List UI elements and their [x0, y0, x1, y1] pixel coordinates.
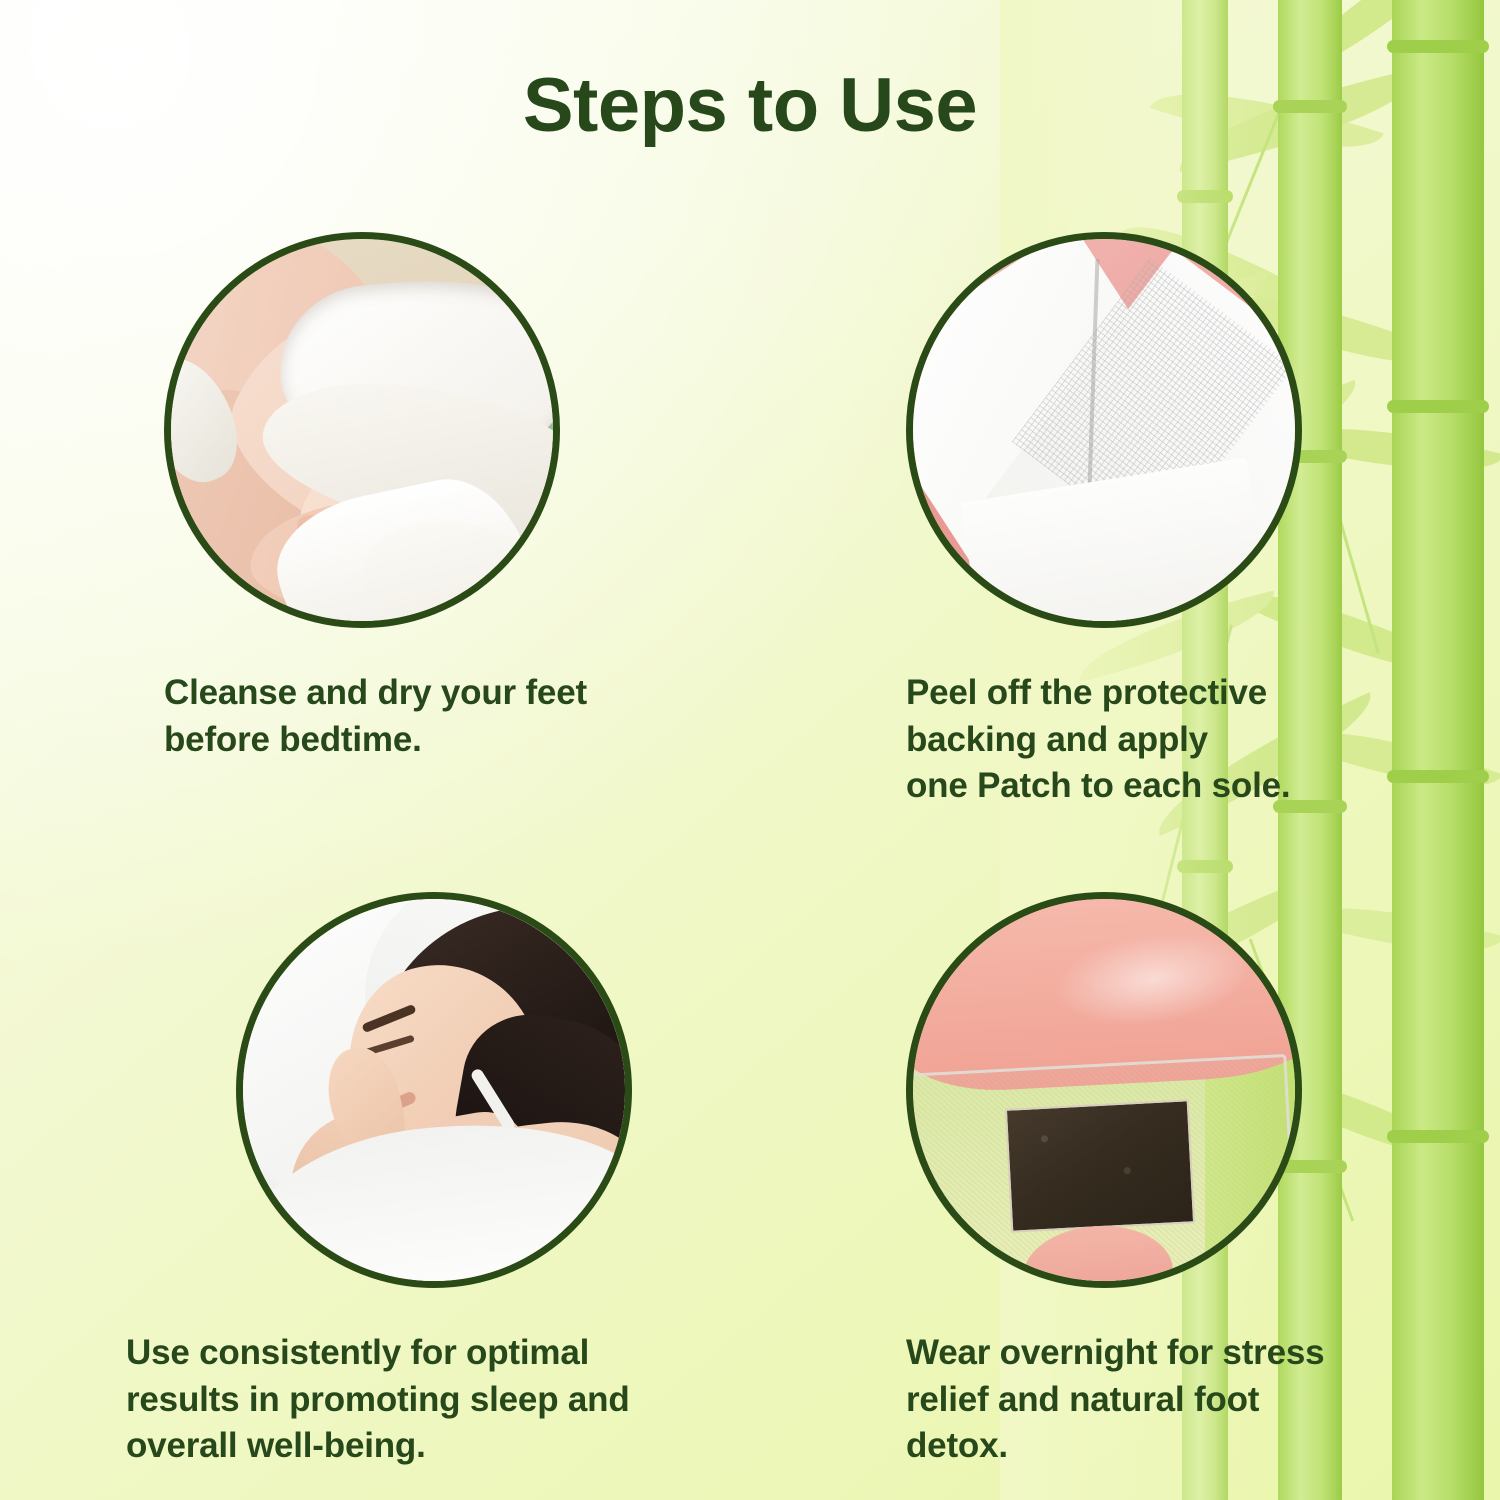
feet-drying-with-towel-photo [164, 232, 560, 628]
steps-grid: Cleanse and dry your feet before bedtime… [0, 200, 1500, 1500]
step-caption-2: Peel off the protective backing and appl… [906, 670, 1426, 810]
step-caption-3: Use consistently for optimal results in … [126, 1330, 766, 1470]
steps-to-use-infographic: Steps to Use [0, 0, 1500, 1500]
step-item-1: Cleanse and dry your feet before bedtime… [164, 232, 764, 763]
bamboo-node [1387, 40, 1489, 53]
foot-patch-closeup-photo [906, 892, 1302, 1288]
step-item-2: Peel off the protective backing and appl… [906, 232, 1426, 810]
step-item-3: Use consistently for optimal results in … [236, 892, 766, 1470]
woman-sleeping-photo [236, 892, 632, 1288]
step-caption-1: Cleanse and dry your feet before bedtime… [164, 670, 764, 763]
step-item-4: Wear overnight for stress relief and nat… [906, 892, 1426, 1470]
page-title: Steps to Use [0, 62, 1500, 149]
step-caption-4: Wear overnight for stress relief and nat… [906, 1330, 1426, 1470]
peel-patch-backing-photo [906, 232, 1302, 628]
